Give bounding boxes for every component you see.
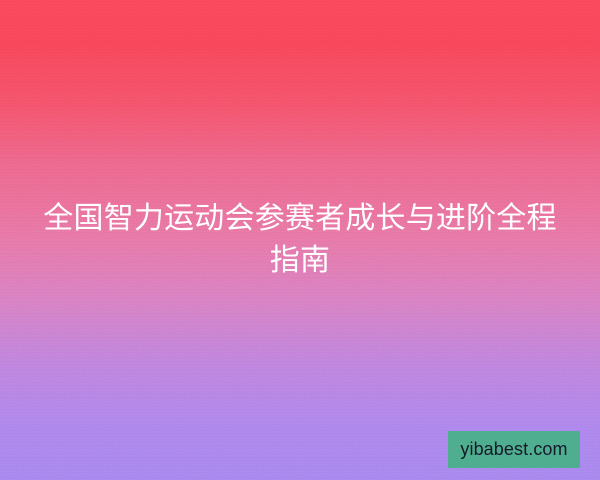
watermark-label: yibabest.com bbox=[460, 439, 567, 460]
page-title: 全国智力运动会参赛者成长与进阶全程指南 bbox=[0, 0, 600, 480]
watermark-badge: yibabest.com bbox=[448, 431, 580, 468]
title-card: 全国智力运动会参赛者成长与进阶全程指南 yibabest.com bbox=[0, 0, 600, 480]
